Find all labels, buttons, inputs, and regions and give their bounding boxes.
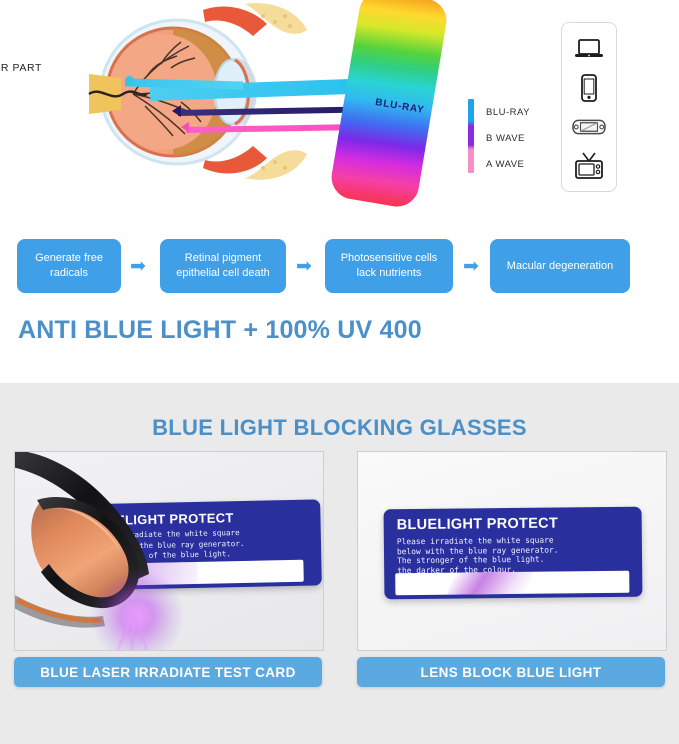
legend-item-a-wave: A WAVE	[486, 159, 524, 170]
card-line-3: The stronger of the blue light.	[397, 555, 559, 566]
legend-item-b-wave: B WAVE	[486, 133, 525, 144]
damage-flow-chart: Generate free radicals ➡ Retinal pigment…	[0, 239, 679, 301]
caption-right: LENS BLOCK BLUE LIGHT	[357, 657, 665, 687]
a-wave-arrowhead-icon	[181, 122, 189, 132]
eye-illustration-svg	[85, 2, 335, 207]
smartphone-icon	[572, 73, 606, 103]
infographic-page: MACULAR PART BLU-RAY BLU-RAY B WAVE A WA…	[0, 0, 679, 744]
flow-arrow-icon-3: ➡	[463, 257, 479, 276]
card-test-square-right	[395, 571, 629, 595]
section-title: BLUE LIGHT BLOCKING GLASSES	[0, 415, 679, 441]
laptop-icon	[572, 34, 606, 64]
flow-step-3: Photosensitive cells lack nutrients	[325, 239, 453, 293]
bottom-section: BLUE LIGHT BLOCKING GLASSES BLUELIGHT PR…	[0, 383, 679, 744]
test-card-right: BLUELIGHT PROTECT Please irradiate the w…	[384, 507, 643, 600]
flow-step-1: Generate free radicals	[17, 239, 121, 293]
product-photo-left: BLUELIGHT PROTECT Please irradiate the w…	[14, 451, 324, 651]
flow-arrow-icon-2: ➡	[296, 257, 312, 276]
card-body-right: Please irradiate the white square below …	[397, 536, 559, 576]
headline-anti-blue-light: ANTI BLUE LIGHT + 100% UV 400	[18, 316, 422, 345]
card-square-violet-band	[447, 572, 534, 595]
macular-part-label: MACULAR PART	[0, 62, 42, 74]
flow-step-4: Macular degeneration	[490, 239, 630, 293]
flow-arrow-icon-1: ➡	[130, 257, 146, 276]
flow-step-2: Retinal pigment epithelial cell death	[160, 239, 286, 293]
device-sources-panel	[561, 22, 617, 192]
top-section: MACULAR PART BLU-RAY BLU-RAY B WAVE A WA…	[0, 0, 679, 383]
card-title-right: BLUELIGHT PROTECT	[397, 516, 559, 534]
television-icon	[572, 151, 606, 181]
eye-anatomy-diagram	[85, 2, 335, 207]
b-wave-arrowhead-icon	[172, 105, 181, 117]
caption-left: BLUE LASER IRRADIATE TEST CARD	[14, 657, 322, 687]
legend-color-bar	[468, 99, 474, 173]
laser-burst-glow	[89, 568, 185, 651]
product-photo-right: BLUELIGHT PROTECT Please irradiate the w…	[357, 451, 667, 651]
handheld-console-icon	[572, 112, 606, 142]
macula-marker-dot	[125, 76, 134, 85]
legend-item-blu-ray: BLU-RAY	[486, 107, 530, 118]
